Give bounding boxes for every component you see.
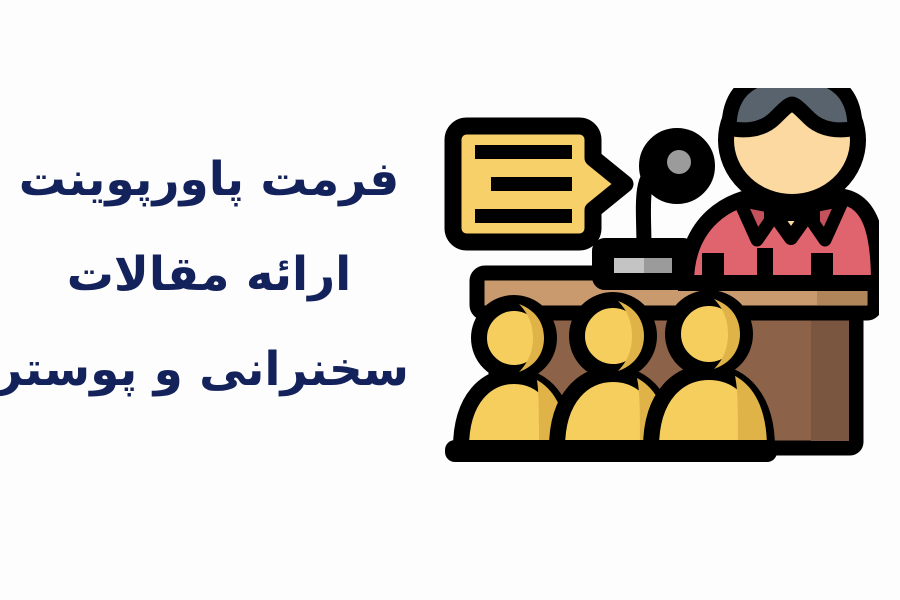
banner-root: فرمت پاورپوینت ارائه مقالات سخنرانی و پو… (0, 0, 900, 600)
page-title: فرمت پاورپوینت ارائه مقالات سخنرانی و پو… (10, 132, 410, 417)
audience-floor-bar (446, 440, 778, 462)
headline-line-3: سخنرانی و پوستر (10, 322, 410, 417)
speaker-figure (687, 88, 880, 286)
speech-bubble-icon (454, 126, 626, 242)
audience-group (446, 298, 778, 462)
headline-line-1: فرمت پاورپوینت (10, 132, 410, 227)
headline-line-2: ارائه مقالات (10, 227, 410, 322)
bubble-line-1 (476, 145, 573, 159)
conference-illustration (440, 88, 880, 480)
bubble-line-2 (492, 177, 573, 191)
bubble-line-3 (476, 209, 573, 223)
